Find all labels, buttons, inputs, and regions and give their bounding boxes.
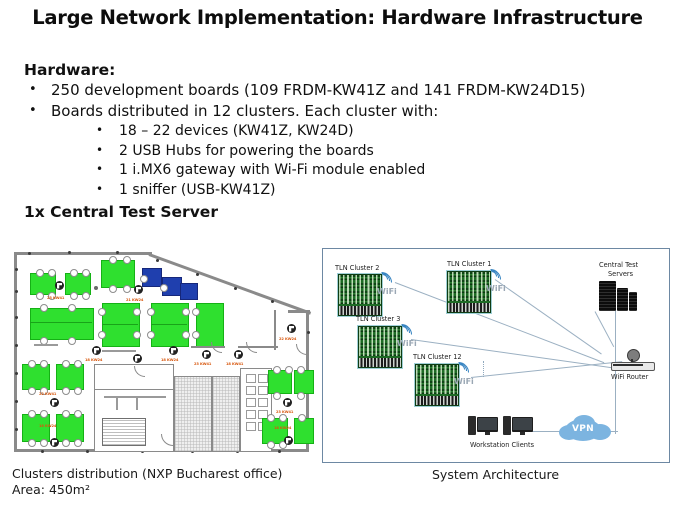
wall-top-right xyxy=(288,310,310,313)
ap-label: 23 KW41 xyxy=(47,296,64,300)
chair xyxy=(36,292,44,300)
wall-column xyxy=(307,331,310,334)
chair xyxy=(298,414,306,422)
wall-column xyxy=(116,251,119,254)
chair xyxy=(279,414,287,422)
chair xyxy=(28,439,36,447)
wall-column xyxy=(234,287,237,290)
chair xyxy=(40,410,48,418)
wall-inner xyxy=(191,346,225,348)
wall-inner xyxy=(274,310,276,350)
desk-group xyxy=(30,308,94,340)
chair xyxy=(70,292,78,300)
access-point-icon xyxy=(169,346,178,355)
router-label: WiFi Router xyxy=(611,373,648,381)
ap-label: 18 KW24 xyxy=(274,426,291,430)
floorplan-canvas: 23 KW41 21 KW24 xyxy=(6,246,316,462)
cluster-3-label: TLN Cluster 3 xyxy=(356,315,400,323)
server-unit xyxy=(629,292,637,311)
desk-divider xyxy=(102,324,138,325)
bullet-boards-count: 250 development boards (109 FRDM-KW41Z a… xyxy=(24,80,664,101)
chair xyxy=(98,308,106,316)
ap-label: 22 KW41 xyxy=(39,392,56,396)
chair xyxy=(109,256,117,264)
chair xyxy=(133,331,141,339)
cluster-12-wifi-label: WiFi xyxy=(454,377,474,386)
floor-marker xyxy=(94,286,98,290)
access-point-icon xyxy=(55,281,64,290)
access-point-icon xyxy=(202,350,211,359)
chair xyxy=(74,387,82,395)
wall-partition xyxy=(104,396,166,398)
pcb-connectors xyxy=(339,306,381,315)
ap-label: 23 KW41 xyxy=(194,362,211,366)
link-servers-vpn xyxy=(615,309,616,434)
cluster-2-wifi-label: WiFi xyxy=(377,287,397,296)
continuation-dots xyxy=(483,361,485,377)
router-antenna xyxy=(627,349,640,362)
meeting-seat xyxy=(258,398,268,407)
pc-stand xyxy=(520,432,525,435)
access-point-icon xyxy=(50,438,59,447)
desk-group xyxy=(22,364,50,390)
hardware-heading: Hardware: xyxy=(24,60,664,80)
link-cluster1-router xyxy=(495,279,602,354)
chair xyxy=(273,392,281,400)
meeting-seat xyxy=(246,398,256,407)
server-stack-icon xyxy=(599,281,637,311)
chair xyxy=(297,366,305,374)
ap-label: 18 KW24 xyxy=(39,424,56,428)
chair xyxy=(40,360,48,368)
wall-column xyxy=(15,400,18,403)
chair xyxy=(68,337,76,345)
access-point-icon xyxy=(234,350,243,359)
pcb-connectors xyxy=(416,396,458,405)
wall-partition xyxy=(34,344,58,346)
wall-column xyxy=(271,300,274,303)
meeting-seat xyxy=(258,374,268,383)
cluster-1-wifi-label: WiFi xyxy=(486,284,506,293)
subbullet-gateway: 1 i.MX6 gateway with Wi-Fi module enable… xyxy=(24,161,664,181)
chair xyxy=(36,269,44,277)
floorplan-caption: Clusters distribution (NXP Bucharest off… xyxy=(12,466,282,498)
meeting-seat xyxy=(246,410,256,419)
chair xyxy=(285,366,293,374)
vpn-label: VPN xyxy=(572,424,594,434)
workstation-icon xyxy=(503,415,533,437)
pc-tower xyxy=(503,416,511,435)
access-point-icon xyxy=(287,324,296,333)
desk-group xyxy=(196,303,224,347)
wall-column xyxy=(156,259,159,262)
wall-left xyxy=(14,252,17,452)
servers-label-line1: Central Test xyxy=(599,261,638,269)
desk-blue xyxy=(180,283,198,300)
chair xyxy=(182,331,190,339)
chair xyxy=(68,304,76,312)
workstation-icon xyxy=(468,415,498,437)
wall-column xyxy=(28,252,31,255)
chair xyxy=(98,331,106,339)
access-point-icon xyxy=(133,354,142,363)
access-point-icon xyxy=(50,398,59,407)
link-servers-router xyxy=(595,311,615,347)
door xyxy=(296,344,307,355)
router-ports xyxy=(613,364,643,366)
chair xyxy=(192,331,200,339)
servers-label-line2: Servers xyxy=(608,270,633,278)
wall-column xyxy=(41,450,44,453)
server-unit xyxy=(599,281,616,311)
access-point-icon xyxy=(92,346,101,355)
chair xyxy=(192,308,200,316)
staircase xyxy=(102,418,146,446)
wifi-router-icon xyxy=(609,349,655,371)
desk-group xyxy=(294,418,314,444)
chair xyxy=(74,360,82,368)
wall-column xyxy=(15,428,18,431)
chair xyxy=(267,441,275,449)
meeting-seat xyxy=(246,422,256,431)
link-cluster12-router xyxy=(471,361,622,378)
chair xyxy=(48,269,56,277)
wall-column xyxy=(86,450,89,453)
wall-column xyxy=(15,268,18,271)
desk-divider xyxy=(30,322,92,323)
ap-label: 18 KW24 xyxy=(85,358,102,362)
chair xyxy=(28,360,36,368)
chair xyxy=(62,387,70,395)
central-test-server-line: 1x Central Test Server xyxy=(24,202,664,223)
wall-column xyxy=(15,372,18,375)
chair xyxy=(147,308,155,316)
chair xyxy=(74,410,82,418)
pcb-connectors xyxy=(448,303,490,312)
wall-top xyxy=(14,252,152,255)
chair xyxy=(70,269,78,277)
workstations-label: Workstation Clients xyxy=(470,441,534,449)
subbullet-sniffer: 1 sniffer (USB-KW41Z) xyxy=(24,181,664,201)
floorplan-caption-line2: Area: 450m² xyxy=(12,482,282,498)
chair xyxy=(28,387,36,395)
room-hatched xyxy=(212,376,240,452)
desk-group xyxy=(101,260,135,288)
architecture-caption: System Architecture xyxy=(432,467,559,483)
chair xyxy=(182,308,190,316)
wall-inner xyxy=(238,346,278,348)
chair xyxy=(273,366,281,374)
pc-monitor xyxy=(477,417,498,432)
wall-column xyxy=(15,316,18,319)
chair xyxy=(62,410,70,418)
system-architecture-diagram: TLN Cluster 2 WiFi TLN Cluster 1 WiFi TL… xyxy=(322,248,670,463)
chair xyxy=(40,439,48,447)
chair xyxy=(123,285,131,293)
desk-group xyxy=(56,414,84,442)
chair xyxy=(28,410,36,418)
chair xyxy=(74,439,82,447)
pcb-connectors xyxy=(359,358,401,367)
chair xyxy=(133,308,141,316)
chair xyxy=(267,414,275,422)
desk-group xyxy=(56,364,84,390)
wall-partition xyxy=(102,350,136,352)
access-point-icon xyxy=(283,398,292,407)
ap-label: 21 KW24 xyxy=(126,298,143,302)
wall-partition xyxy=(116,396,118,410)
server-unit xyxy=(617,288,628,311)
pc-monitor xyxy=(512,417,533,432)
meeting-seat xyxy=(246,386,256,395)
chair xyxy=(160,284,168,292)
wall-column xyxy=(15,290,18,293)
wall-column xyxy=(278,450,281,453)
desk-group xyxy=(294,370,314,394)
chair xyxy=(62,439,70,447)
chair xyxy=(62,360,70,368)
meeting-seat xyxy=(246,374,256,383)
cluster-12-label: TLN Cluster 12 xyxy=(413,353,462,361)
hardware-text-block: Hardware: 250 development boards (109 FR… xyxy=(24,60,664,223)
chair xyxy=(82,292,90,300)
wall-column xyxy=(68,251,71,254)
page-title: Large Network Implementation: Hardware I… xyxy=(0,6,675,29)
desk-group xyxy=(22,414,50,442)
chair xyxy=(40,304,48,312)
room-hatched xyxy=(174,376,212,452)
chair xyxy=(140,275,148,283)
pc-tower xyxy=(468,416,476,435)
wall-column xyxy=(15,344,18,347)
pc-stand xyxy=(485,432,490,435)
wall-column xyxy=(196,273,199,276)
access-point-icon xyxy=(284,436,293,445)
chair xyxy=(147,331,155,339)
desk-divider xyxy=(151,324,187,325)
ap-label: 22 KW24 xyxy=(279,337,296,341)
cluster-3-wifi-label: WiFi xyxy=(397,339,417,348)
chair xyxy=(297,392,305,400)
subbullet-devices: 18 – 22 devices (KW41Z, KW24D) xyxy=(24,122,664,142)
ap-label: 18 KW41 xyxy=(226,362,243,366)
subbullet-usb-hubs: 2 USB Hubs for powering the boards xyxy=(24,142,664,162)
wall-partition xyxy=(136,396,138,410)
cluster-1-label: TLN Cluster 1 xyxy=(447,260,491,268)
ap-label: 18 KW24 xyxy=(161,358,178,362)
meeting-seat xyxy=(258,386,268,395)
bullet-clusters: Boards distributed in 12 clusters. Each … xyxy=(24,101,664,122)
cluster-2-label: TLN Cluster 2 xyxy=(335,264,379,272)
chair xyxy=(109,285,117,293)
floorplan-caption-line1: Clusters distribution (NXP Bucharest off… xyxy=(12,466,282,482)
chair xyxy=(82,269,90,277)
chair xyxy=(123,256,131,264)
floorplan-image: 23 KW41 21 KW24 xyxy=(6,246,316,462)
